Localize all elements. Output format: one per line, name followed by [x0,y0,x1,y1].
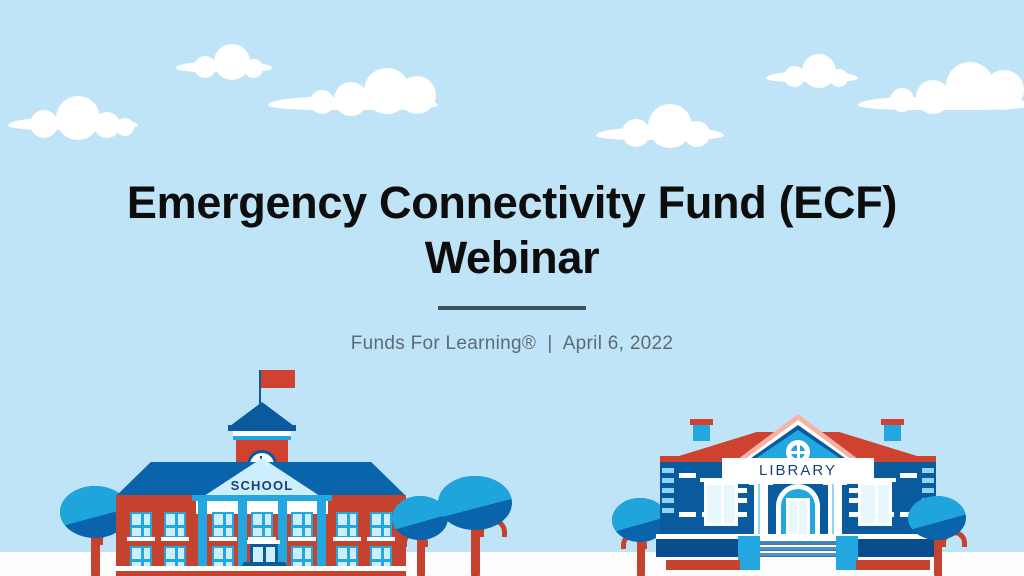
title-block: Emergency Connectivity Fund (ECF)Webinar… [0,176,1024,355]
page-title-line-1: Emergency Connectivity Fund (ECF) [127,177,897,228]
cloud-2 [176,44,272,72]
school-sign-label: SCHOOL [198,478,326,493]
page-title-line-2: Webinar [425,232,600,283]
library-window-right [858,482,892,526]
tree-5 [908,496,966,576]
library-sign-label: LIBRARY [722,458,874,484]
cloud-6 [858,62,1024,110]
title-divider [438,306,586,310]
tree-3 [438,476,512,576]
cloud-1 [8,96,138,130]
cloud-3 [268,68,438,110]
presentation-slide: Emergency Connectivity Fund (ECF)Webinar… [0,0,1024,576]
library-building: LIBRARY [648,408,948,576]
school-building: SCHOOL [116,366,406,576]
subtitle: Funds For Learning® | April 6, 2022 [0,333,1024,355]
cloud-4 [596,104,724,140]
cloud-5 [766,54,858,82]
library-window-left [704,482,738,526]
page-title: Emergency Connectivity Fund (ECF)Webinar [0,176,1024,286]
